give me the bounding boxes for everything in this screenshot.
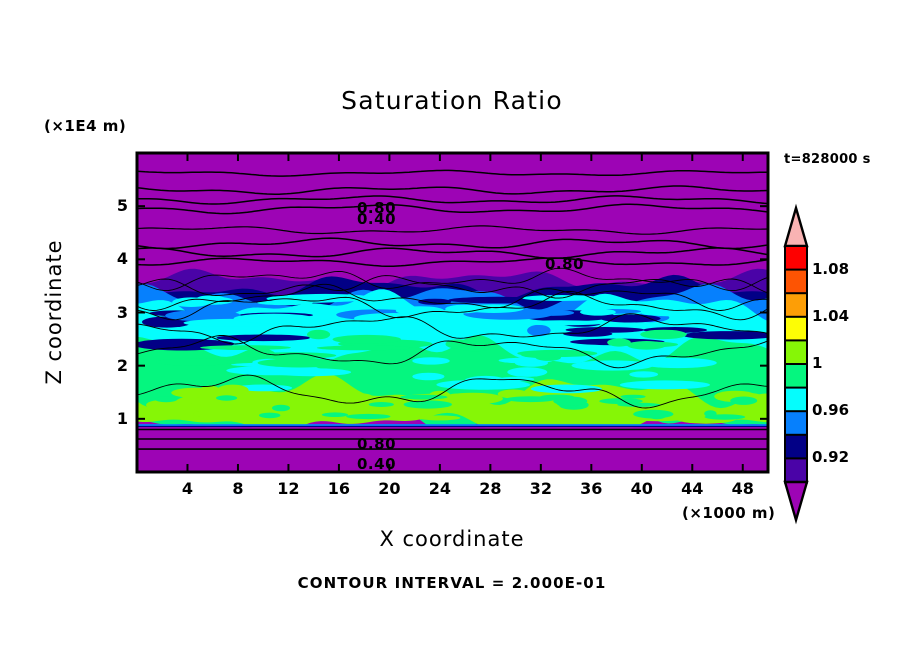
contour-label: 0.40	[357, 455, 396, 473]
x-tick-label: 20	[369, 479, 409, 498]
x-tick-label: 44	[672, 479, 712, 498]
y-tick-label: 3	[98, 303, 128, 322]
x-tick-label: 4	[167, 479, 207, 498]
x-tick-label: 12	[268, 479, 308, 498]
y-tick-label: 1	[98, 409, 128, 428]
contour-label: 0.80	[357, 435, 396, 453]
colorbar-label: 0.96	[812, 401, 849, 419]
y-tick-label: 5	[98, 196, 128, 215]
contour-label: 0.80	[545, 255, 584, 273]
colorbar-label: 0.92	[812, 448, 849, 466]
x-tick-label: 28	[470, 479, 510, 498]
figure-canvas: Saturation Ratio (×1E4 m) t=828000 s Z c…	[0, 0, 904, 654]
x-tick-label: 16	[319, 479, 359, 498]
colorbar[interactable]	[785, 208, 807, 520]
y-tick-label: 2	[98, 356, 128, 375]
x-tick-label: 36	[571, 479, 611, 498]
x-tick-label: 32	[521, 479, 561, 498]
y-tick-label: 4	[98, 249, 128, 268]
x-tick-label: 8	[218, 479, 258, 498]
x-tick-label: 24	[420, 479, 460, 498]
contour-plot	[0, 0, 904, 654]
contour-label: 0.40	[357, 210, 396, 228]
colorbar-label: 1	[812, 354, 822, 372]
colorbar-label: 1.04	[812, 307, 849, 325]
x-tick-label: 40	[622, 479, 662, 498]
colorbar-label: 1.08	[812, 260, 849, 278]
x-tick-label: 48	[723, 479, 763, 498]
